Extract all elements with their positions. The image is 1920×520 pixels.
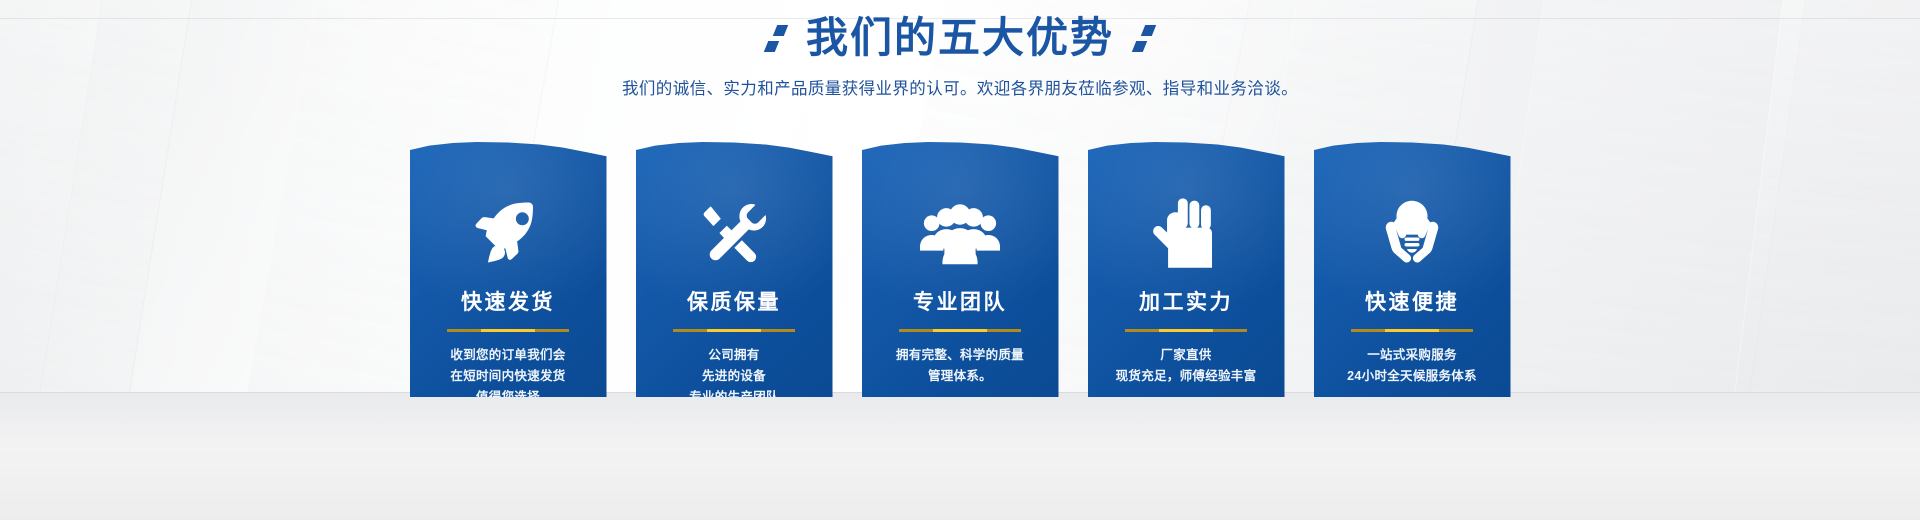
description-line: 厂家直供 [1100, 345, 1273, 366]
description-line: 24小时全天候服务体系 [1326, 366, 1499, 387]
advantage-card[interactable]: 加工实力 厂家直供 现货充足，师傅经验丰富 [1088, 142, 1285, 397]
description-line: 在短时间内快速发货 [422, 366, 595, 387]
advantage-card[interactable]: 保质保量 公司拥有 先进的设备 专业的生产团队 专业的技术工人 [636, 142, 833, 397]
advantage-card-title: 快速便捷 [1314, 286, 1511, 316]
advantage-card-title: 保质保量 [636, 286, 833, 316]
team-group-icon [862, 178, 1059, 274]
description-line: 拥有完整、科学的质量 [874, 345, 1047, 366]
advantage-card-description: 拥有完整、科学的质量 管理体系。 [862, 345, 1059, 387]
card-divider [1351, 329, 1473, 332]
advantage-card-description: 一站式采购服务 24小时全天候服务体系 [1314, 345, 1511, 387]
description-line: 专业的生产团队 [648, 387, 821, 397]
description-line: 现货充足，师傅经验丰富 [1100, 366, 1273, 387]
description-line: 值得您选择 [422, 387, 595, 397]
title-row: 我们的五大优势 [0, 14, 1920, 62]
wrench-screwdriver-icon [636, 178, 833, 274]
description-line: 收到您的订单我们会 [422, 345, 595, 366]
advantage-card-description: 公司拥有 先进的设备 专业的生产团队 专业的技术工人 [636, 345, 833, 397]
slash-decoration-left-icon [766, 25, 786, 52]
slash-decoration-right-icon [1134, 25, 1154, 52]
description-line: 管理体系。 [874, 366, 1047, 387]
advantage-card-description: 收到您的订单我们会 在短时间内快速发货 值得您选择 [410, 345, 607, 397]
page-subtitle: 我们的诚信、实力和产品质量获得业界的认可。欢迎各界朋友莅临参观、指导和业务洽谈。 [0, 75, 1920, 99]
advantage-card-title: 专业团队 [862, 286, 1059, 316]
advantage-card-title: 加工实力 [1088, 286, 1285, 316]
advantage-card[interactable]: 专业团队 拥有完整、科学的质量 管理体系。 [862, 142, 1059, 397]
description-line: 公司拥有 [648, 345, 821, 366]
advantage-card-title: 快速发货 [410, 286, 607, 316]
card-divider [673, 329, 795, 332]
advantage-card-description: 厂家直供 现货充足，师傅经验丰富 [1088, 345, 1285, 387]
advantage-card[interactable]: 快速便捷 一站式采购服务 24小时全天候服务体系 [1314, 142, 1511, 397]
advantage-card[interactable]: 快速发货 收到您的订单我们会 在短时间内快速发货 值得您选择 [410, 142, 607, 397]
section-header: 我们的五大优势 我们的诚信、实力和产品质量获得业界的认可。欢迎各界朋友莅临参观、… [0, 14, 1920, 99]
card-divider [447, 329, 569, 332]
page-title: 我们的五大优势 [806, 14, 1114, 62]
description-line: 一站式采购服务 [1326, 345, 1499, 366]
description-line: 先进的设备 [648, 366, 821, 387]
rocket-icon [410, 178, 607, 274]
fist-hand-icon [1088, 178, 1285, 274]
background-lower-shade [0, 392, 1920, 520]
hands-lightbulb-icon [1314, 178, 1511, 274]
card-divider [1125, 329, 1247, 332]
card-divider [899, 329, 1021, 332]
advantage-card-list: 快速发货 收到您的订单我们会 在短时间内快速发货 值得您选择 保质保量 公司拥有… [0, 142, 1920, 397]
